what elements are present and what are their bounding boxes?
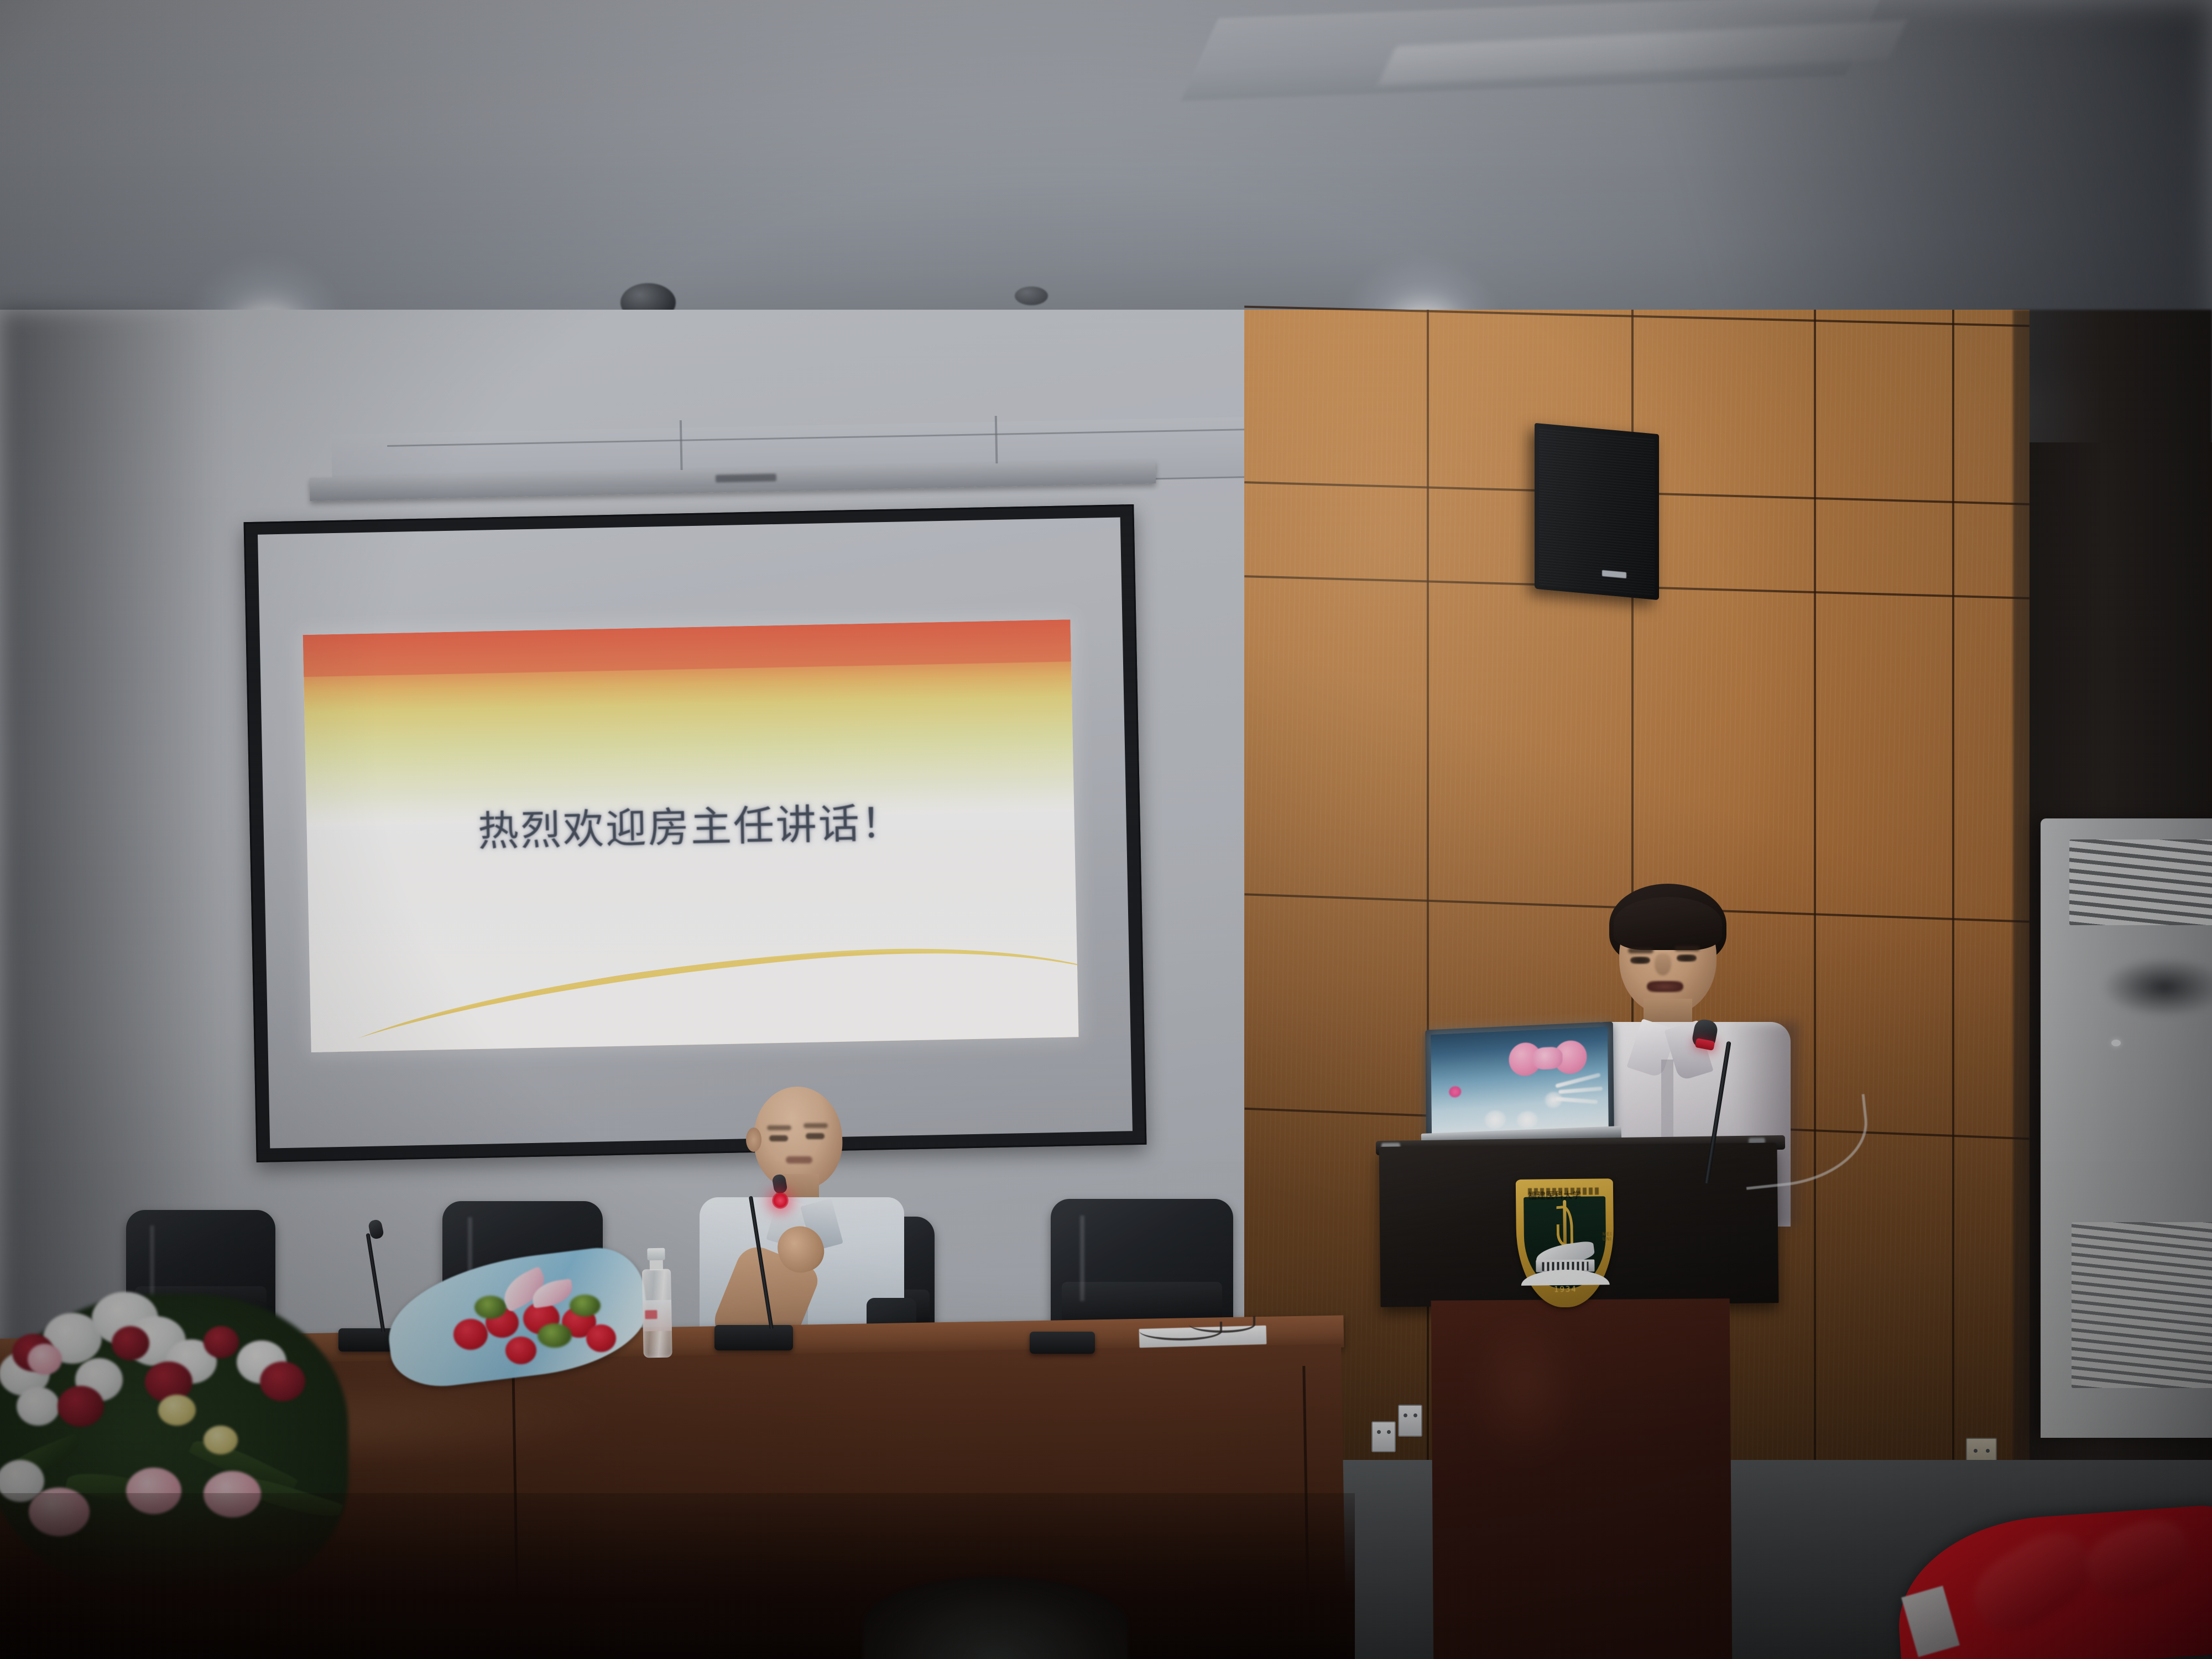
speaker-eye-left xyxy=(1630,957,1650,964)
hello-kitty-face-glow xyxy=(1516,1110,1538,1129)
outlet-slot xyxy=(1377,1430,1381,1434)
crest-year-text: 1934 xyxy=(1517,1285,1614,1295)
bow-knot xyxy=(1533,1046,1563,1070)
ac-vent-top xyxy=(2069,839,2212,925)
bouquet-rose xyxy=(586,1324,616,1352)
screen-surface: 热烈欢迎房主任讲话！ xyxy=(258,517,1133,1148)
bottle-cap xyxy=(647,1248,665,1261)
bottle-label-accent xyxy=(645,1310,657,1319)
flower-white xyxy=(17,1387,60,1426)
wall-mounted-loudspeaker xyxy=(1535,423,1659,600)
presider-brow-right xyxy=(804,1123,828,1128)
flower-red xyxy=(58,1386,104,1427)
hello-kitty-bow-icon xyxy=(1509,1038,1587,1080)
gooseneck-microphone-right-base[interactable] xyxy=(1030,1332,1095,1354)
ac-vent-lower xyxy=(2072,1222,2212,1388)
wrapped-bouquet xyxy=(387,1236,658,1385)
outlet-slot xyxy=(1974,1449,1978,1453)
lectern-sheen xyxy=(1467,1314,1582,1460)
bottle-label xyxy=(643,1300,672,1332)
laptop-lid xyxy=(1425,1021,1614,1141)
water-bottle[interactable] xyxy=(641,1247,672,1358)
crest-chinese-text: 福建医科大学 xyxy=(1528,1187,1601,1195)
hello-kitty-eye-icon xyxy=(1485,1110,1506,1129)
laptop-display xyxy=(1431,1027,1609,1136)
flower-yellow xyxy=(204,1426,238,1454)
flower-pink xyxy=(28,1344,62,1375)
ac-shadow xyxy=(2101,957,2212,1018)
power-outlet-behind-podium[interactable] xyxy=(1398,1405,1422,1437)
outlet-slot xyxy=(1387,1430,1391,1434)
lectern-column xyxy=(1431,1298,1733,1659)
presider-mouth xyxy=(786,1156,812,1164)
presider-eye-left xyxy=(769,1135,788,1141)
fabric-fold xyxy=(2078,1510,2198,1609)
flower-red xyxy=(260,1361,305,1401)
bouquet-greenery xyxy=(570,1295,601,1317)
power-outlet-wall-right[interactable] xyxy=(1371,1421,1396,1452)
outlet-slot xyxy=(1986,1449,1990,1453)
whisker-icon xyxy=(1558,1087,1603,1094)
bouquet-rose xyxy=(453,1319,488,1350)
table-cable xyxy=(1189,1316,1255,1333)
speaker-nose xyxy=(1655,953,1671,975)
speaker-eye-right xyxy=(1677,954,1697,962)
speaker-grille xyxy=(1539,427,1655,595)
speaker-hair-front xyxy=(1614,897,1722,950)
hello-kitty-eye-icon xyxy=(1545,1091,1562,1108)
flower-yellow xyxy=(158,1395,196,1426)
projected-slide: 热烈欢迎房主任讲话！ xyxy=(303,619,1079,1052)
crest-rim-text-english: MEDICAL UNIVERSITY xyxy=(1603,1232,1612,1279)
fabric-fold xyxy=(1961,1517,2105,1646)
laptop[interactable] xyxy=(1426,1026,1619,1153)
conference-hall-photo: 热烈欢迎房主任讲话！ xyxy=(0,0,2212,1659)
bouquet-greenery xyxy=(538,1323,572,1348)
bouquet-greenery xyxy=(474,1296,507,1319)
flower-red xyxy=(112,1326,149,1360)
screen-brand-label xyxy=(716,473,776,482)
outlet-slot xyxy=(1404,1413,1407,1417)
gooseneck-microphone-presider-base[interactable] xyxy=(714,1325,793,1350)
bouquet-rose xyxy=(505,1337,536,1364)
presider-ear xyxy=(746,1128,761,1152)
speaker-brow-left xyxy=(1628,948,1653,953)
foreground-shadow xyxy=(0,1493,1355,1659)
hello-kitty-nose-icon xyxy=(1449,1086,1462,1097)
university-crest-emblem: 福建医科大学 1934 MEDICAL UNIVERSITY xyxy=(1516,1178,1614,1308)
flower-red xyxy=(204,1326,239,1358)
floor-standing-air-conditioner[interactable] xyxy=(2041,818,2212,1438)
speaker-brow-right xyxy=(1674,946,1700,951)
ac-indicator-led xyxy=(2111,1040,2121,1046)
ceiling-sensor xyxy=(1015,286,1048,305)
speaker-mouth xyxy=(1647,981,1683,992)
outlet-slot xyxy=(1413,1413,1417,1417)
projection-screen[interactable]: 热烈欢迎房主任讲话！ xyxy=(244,504,1147,1162)
microphone-indicator-light xyxy=(772,1192,789,1209)
presider-eye-right xyxy=(806,1133,825,1139)
presider-brow-left xyxy=(767,1125,791,1130)
